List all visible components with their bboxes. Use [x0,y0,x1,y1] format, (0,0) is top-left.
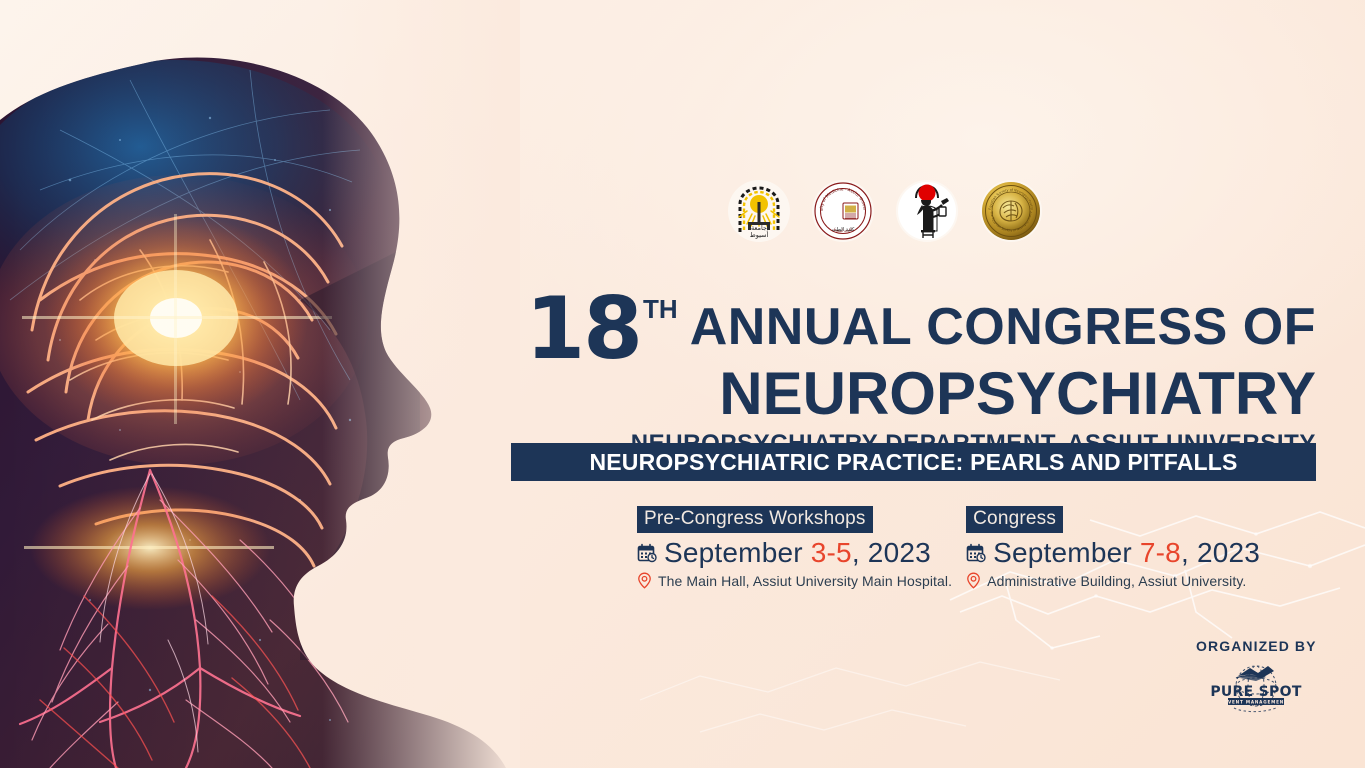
date-block-congress: Congress [966,506,1260,589]
brain-head-artwork [0,0,520,768]
faculty-of-medicine-logo: Faculty of Medicine · Assiut University … [812,180,874,242]
calendar-icon [966,543,986,563]
assiut-university-logo: جامعة أسيوط [728,180,790,242]
date-days: 7-8 [1140,537,1181,568]
date-chip-label: Pre-Congress Workshops [637,506,873,533]
date-line: September 7-8, 2023 [966,537,1260,569]
partner-logos: جامعة أسيوط Faculty of Medicine · Assiut… [728,180,1042,242]
location-pin-icon [637,572,652,589]
date-month: September [993,537,1132,568]
venue-text: Administrative Building, Assiut Universi… [987,573,1246,589]
organized-by-block: ORGANIZED BY [1196,638,1316,714]
theme-banner: NEUROPSYCHIATRIC PRACTICE: PEARLS AND PI… [511,443,1316,481]
date-text: September 7-8, 2023 [993,537,1260,569]
theme-banner-text: NEUROPSYCHIATRIC PRACTICE: PEARLS AND PI… [589,449,1237,476]
pure-spot-logo: PURE SPOT EVENT MANAGEMENT [1196,658,1316,714]
svg-text:EVENT MANAGEMENT: EVENT MANAGEMENT [1224,699,1287,704]
date-days: 3-5 [811,537,852,568]
venue-text: The Main Hall, Assiut University Main Ho… [658,573,952,589]
title-line-1-text: ANNUAL CONGRESS OF [690,304,1316,352]
svg-text:أسيوط: أسيوط [750,230,769,239]
dates-row: Pre-Congress Workshops [637,506,1260,589]
conference-poster: جامعة أسيوط Faculty of Medicine · Assiut… [0,0,1365,768]
date-text: September 3-5, 2023 [664,537,931,569]
date-chip-label: Congress [966,506,1063,533]
venue-line: Administrative Building, Assiut Universi… [966,572,1260,589]
date-year: 2023 [868,537,931,568]
title-block: 18 TH ANNUAL CONGRESS OF NEUROPSYCHIATRY… [500,292,1316,458]
venue-line: The Main Hall, Assiut University Main Ho… [637,572,952,589]
svg-text:PURE SPOT: PURE SPOT [1210,684,1301,700]
ordinal-suffix: TH [643,298,678,322]
neuropsychiatry-society-medal-logo: Egyptian Society of Neuropsychiatry The … [980,180,1042,242]
calendar-icon [637,543,657,563]
location-pin-icon [966,572,981,589]
date-month: September [664,537,803,568]
date-year: 2023 [1197,537,1260,568]
poster-content: جامعة أسيوط Faculty of Medicine · Assiut… [500,0,1365,768]
title-line-1: 18 TH ANNUAL CONGRESS OF [500,292,1316,368]
ordinal-number: 18 [525,292,641,368]
date-block-pre-congress: Pre-Congress Workshops [637,506,952,589]
thoth-scribe-logo [896,180,958,242]
date-line: September 3-5, 2023 [637,537,952,569]
organized-by-label: ORGANIZED BY [1196,638,1316,654]
